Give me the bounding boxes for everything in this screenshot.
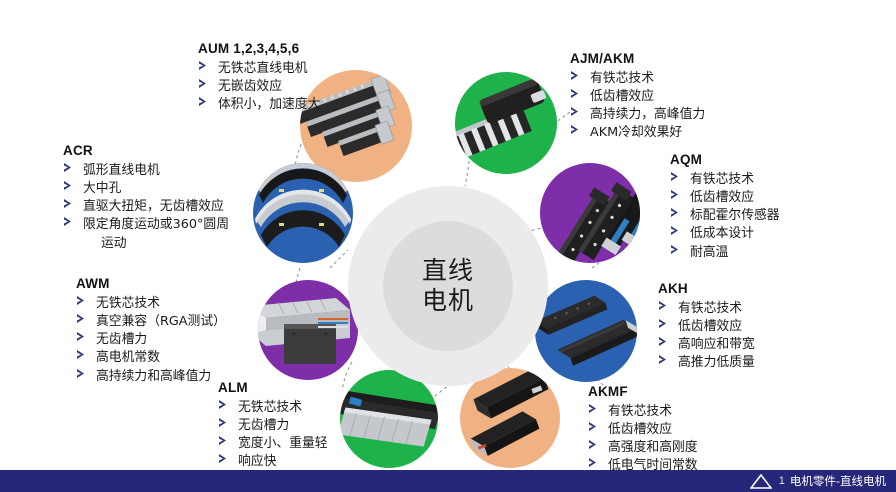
feature-text: 响应快: [238, 454, 276, 469]
feature-list-aum: 无铁芯直线电机 无嵌齿效应 体积小，加速度大: [198, 60, 320, 114]
feature-text: 无嵌齿效应: [218, 79, 282, 94]
heading-akmf: AKMF: [588, 384, 698, 399]
node-circle-ajm-akm[interactable]: [455, 72, 557, 174]
feature-text: 无齿槽力: [238, 418, 289, 433]
feature-text: 高强度和高刚度: [608, 440, 698, 455]
list-item: 有铁芯技术: [670, 171, 780, 189]
list-item: 低成本设计: [670, 225, 780, 243]
arrow-bullet-icon: [76, 331, 90, 342]
arrow-bullet-icon: [76, 313, 90, 324]
text-block-ajm-akm: AJM/AKM 有铁芯技术 低齿槽效应 高持续力，高峰值力 AKM冷却效果好: [570, 51, 705, 143]
arrow-bullet-icon: [570, 106, 584, 117]
list-item: 无嵌齿效应: [198, 78, 320, 96]
feature-text: 低齿槽效应: [678, 319, 742, 334]
feature-text: 有铁芯技术: [690, 172, 754, 187]
node-circle-alm[interactable]: [340, 370, 438, 468]
list-item: 低齿槽效应: [588, 421, 698, 439]
feature-text: 高持续力，高峰值力: [590, 107, 705, 122]
list-item: 有铁芯技术: [588, 403, 698, 421]
heading-aqm: AQM: [670, 152, 780, 167]
node-circle-awm[interactable]: [258, 280, 358, 380]
feature-text: 高持续力和高峰值力: [96, 369, 211, 384]
quad-rail-motor-photo: [540, 163, 640, 263]
arrow-bullet-icon: [588, 403, 602, 414]
feature-text: 低齿槽效应: [608, 422, 672, 437]
feature-text: 高推力低质量: [678, 355, 755, 370]
frameless-motor-photo: [460, 368, 560, 468]
arrow-bullet-icon: [198, 96, 212, 107]
feature-text: 大中孔: [83, 181, 121, 196]
heading-alm: ALM: [218, 380, 328, 395]
list-item: 低齿槽效应: [670, 189, 780, 207]
center-hub-label: 直线 电机: [422, 256, 474, 317]
text-block-awm: AWM 无铁芯技术 真空兼容（RGA测试） 无齿槽力 高电机常数 高持续力和高峰…: [76, 276, 226, 386]
center-hub-inner: 直线 电机: [383, 221, 513, 351]
node-circle-acr[interactable]: [253, 163, 353, 263]
arrow-bullet-icon: [670, 207, 684, 218]
text-block-akh: AKH 有铁芯技术 低齿槽效应 高响应和带宽 高推力低质量: [658, 281, 755, 373]
node-circle-akmf[interactable]: [460, 368, 560, 468]
arrow-bullet-icon: [588, 439, 602, 450]
arrow-bullet-icon: [63, 216, 77, 227]
heading-acr: ACR: [63, 143, 229, 158]
feature-text: 限定角度运动或360°圆周: [83, 217, 229, 232]
list-item: 高电机常数: [76, 349, 226, 367]
feature-text: 直驱大扭矩，无齿槽效应: [83, 199, 224, 214]
arrow-bullet-icon: [658, 354, 672, 365]
arrow-bullet-icon: [63, 198, 77, 209]
center-label-line1: 直线: [422, 256, 474, 287]
flat-ironcore-motor-photo: [535, 280, 637, 382]
arrow-bullet-icon: [570, 70, 584, 81]
arrow-bullet-icon: [76, 368, 90, 379]
list-item: 有铁芯技术: [658, 300, 755, 318]
node-circle-akh[interactable]: [535, 280, 637, 382]
arrow-bullet-icon: [218, 435, 232, 446]
feature-text: 有铁芯技术: [678, 301, 742, 316]
slim-ironless-motor-photo: [340, 370, 438, 468]
list-item: 真空兼容（RGA测试）: [76, 313, 226, 331]
list-item: 体积小，加速度大: [198, 96, 320, 114]
feature-text: 低齿槽效应: [590, 89, 654, 104]
feature-text: 标配霍尔传感器: [690, 208, 780, 223]
list-item: 运动: [63, 235, 229, 253]
feature-text: 体积小，加速度大: [218, 97, 320, 112]
arrow-bullet-icon: [198, 60, 212, 71]
feature-list-acr: 弧形直线电机 大中孔 直驱大扭矩，无齿槽效应 限定角度运动或360°圆周 运动: [63, 162, 229, 253]
list-item: 无铁芯直线电机: [198, 60, 320, 78]
triangle-logo-icon: [750, 474, 772, 489]
heading-awm: AWM: [76, 276, 226, 291]
arrow-bullet-icon: [670, 244, 684, 255]
feature-text: AKM冷却效果好: [590, 125, 682, 140]
heading-akh: AKH: [658, 281, 755, 296]
feature-text: 无铁芯技术: [96, 296, 160, 311]
list-item: 无齿槽力: [218, 417, 328, 435]
arrow-bullet-icon: [670, 171, 684, 182]
feature-text: 无齿槽力: [96, 332, 147, 347]
arrow-bullet-icon: [658, 336, 672, 347]
feature-list-aqm: 有铁芯技术 低齿槽效应 标配霍尔传感器 低成本设计 耐高温: [670, 171, 780, 262]
list-item: 直驱大扭矩，无齿槽效应: [63, 198, 229, 216]
feature-text: 宽度小、重量轻: [238, 436, 328, 451]
arrow-bullet-icon: [198, 78, 212, 89]
text-block-aum: AUM 1,2,3,4,5,6 无铁芯直线电机 无嵌齿效应 体积小，加速度大: [198, 41, 320, 114]
feature-text: 无铁芯技术: [238, 400, 302, 415]
footer-title: 电机零件-直线电机: [790, 473, 886, 489]
arrow-bullet-icon: [76, 349, 90, 360]
list-item: 弧形直线电机: [63, 162, 229, 180]
list-item: 无齿槽力: [76, 331, 226, 349]
heading-ajm-akm: AJM/AKM: [570, 51, 705, 66]
text-block-alm: ALM 无铁芯技术 无齿槽力 宽度小、重量轻 响应快: [218, 380, 328, 472]
feature-text: 运动: [101, 236, 127, 251]
list-item: 高推力低质量: [658, 354, 755, 372]
footer-bar: 1 电机零件-直线电机: [0, 470, 896, 492]
vacuum-motor-photo: [258, 280, 358, 380]
feature-list-ajm-akm: 有铁芯技术 低齿槽效应 高持续力，高峰值力 AKM冷却效果好: [570, 70, 705, 143]
list-item: 高持续力，高峰值力: [570, 106, 705, 124]
arrow-bullet-icon: [218, 399, 232, 410]
node-circle-aqm[interactable]: [540, 163, 640, 263]
text-block-acr: ACR 弧形直线电机 大中孔 直驱大扭矩，无齿槽效应 限定角度运动或360°圆周…: [63, 143, 229, 253]
arrow-bullet-icon: [670, 225, 684, 236]
arrow-bullet-icon: [218, 417, 232, 428]
list-item: 低齿槽效应: [570, 88, 705, 106]
arrow-bullet-icon: [670, 189, 684, 200]
arrow-bullet-icon: [76, 295, 90, 306]
center-label-line2: 电机: [422, 286, 474, 317]
feature-text: 无铁芯直线电机: [218, 61, 308, 76]
feature-text: 弧形直线电机: [83, 163, 160, 178]
list-item: 响应快: [218, 453, 328, 471]
feature-text: 有铁芯技术: [590, 71, 654, 86]
list-item: 大中孔: [63, 180, 229, 198]
arrow-bullet-icon: [63, 180, 77, 191]
feature-text: 低成本设计: [690, 226, 754, 241]
arrow-bullet-icon: [570, 88, 584, 99]
feature-text: 高电机常数: [96, 350, 160, 365]
text-block-aqm: AQM 有铁芯技术 低齿槽效应 标配霍尔传感器 低成本设计 耐高温: [670, 152, 780, 262]
list-item: AKM冷却效果好: [570, 124, 705, 142]
page-number: 1: [779, 475, 785, 487]
text-block-akmf: AKMF 有铁芯技术 低齿槽效应 高强度和高刚度 低电气时间常数: [588, 384, 698, 476]
feature-list-awm: 无铁芯技术 真空兼容（RGA测试） 无齿槽力 高电机常数 高持续力和高峰值力: [76, 295, 226, 386]
feature-list-alm: 无铁芯技术 无齿槽力 宽度小、重量轻 响应快: [218, 399, 328, 472]
list-item: 限定角度运动或360°圆周: [63, 216, 229, 234]
list-item: 无铁芯技术: [76, 295, 226, 313]
list-item: 高响应和带宽: [658, 336, 755, 354]
feature-list-akh: 有铁芯技术 低齿槽效应 高响应和带宽 高推力低质量: [658, 300, 755, 373]
arrow-bullet-icon: [588, 421, 602, 432]
list-item: 低齿槽效应: [658, 318, 755, 336]
heading-aum: AUM 1,2,3,4,5,6: [198, 41, 320, 56]
list-item: 无铁芯技术: [218, 399, 328, 417]
feature-list-akmf: 有铁芯技术 低齿槽效应 高强度和高刚度 低电气时间常数: [588, 403, 698, 476]
arrow-bullet-icon: [588, 457, 602, 468]
arc-rotary-motor-photo: [253, 163, 353, 263]
list-item: 耐高温: [670, 244, 780, 262]
feature-text: 高响应和带宽: [678, 337, 755, 352]
arrow-bullet-icon: [658, 300, 672, 311]
list-item: 高持续力和高峰值力: [76, 368, 226, 386]
arrow-bullet-icon: [63, 162, 77, 173]
list-item: 标配霍尔传感器: [670, 207, 780, 225]
arrow-bullet-icon: [570, 124, 584, 135]
ironcore-motor-plates-photo: [455, 72, 557, 174]
slide-canvas: 直线 电机 AUM 1,2,3,4,5,6 无铁芯直线电机 无嵌齿效应 体积小，…: [0, 0, 896, 492]
list-item: 宽度小、重量轻: [218, 435, 328, 453]
feature-text: 有铁芯技术: [608, 404, 672, 419]
feature-text: 低齿槽效应: [690, 190, 754, 205]
list-item: 高强度和高刚度: [588, 439, 698, 457]
arrow-bullet-icon: [218, 453, 232, 464]
list-item: 有铁芯技术: [570, 70, 705, 88]
feature-text: 真空兼容（RGA测试）: [96, 314, 226, 329]
arrow-bullet-icon: [658, 318, 672, 329]
feature-text: 耐高温: [690, 245, 728, 260]
